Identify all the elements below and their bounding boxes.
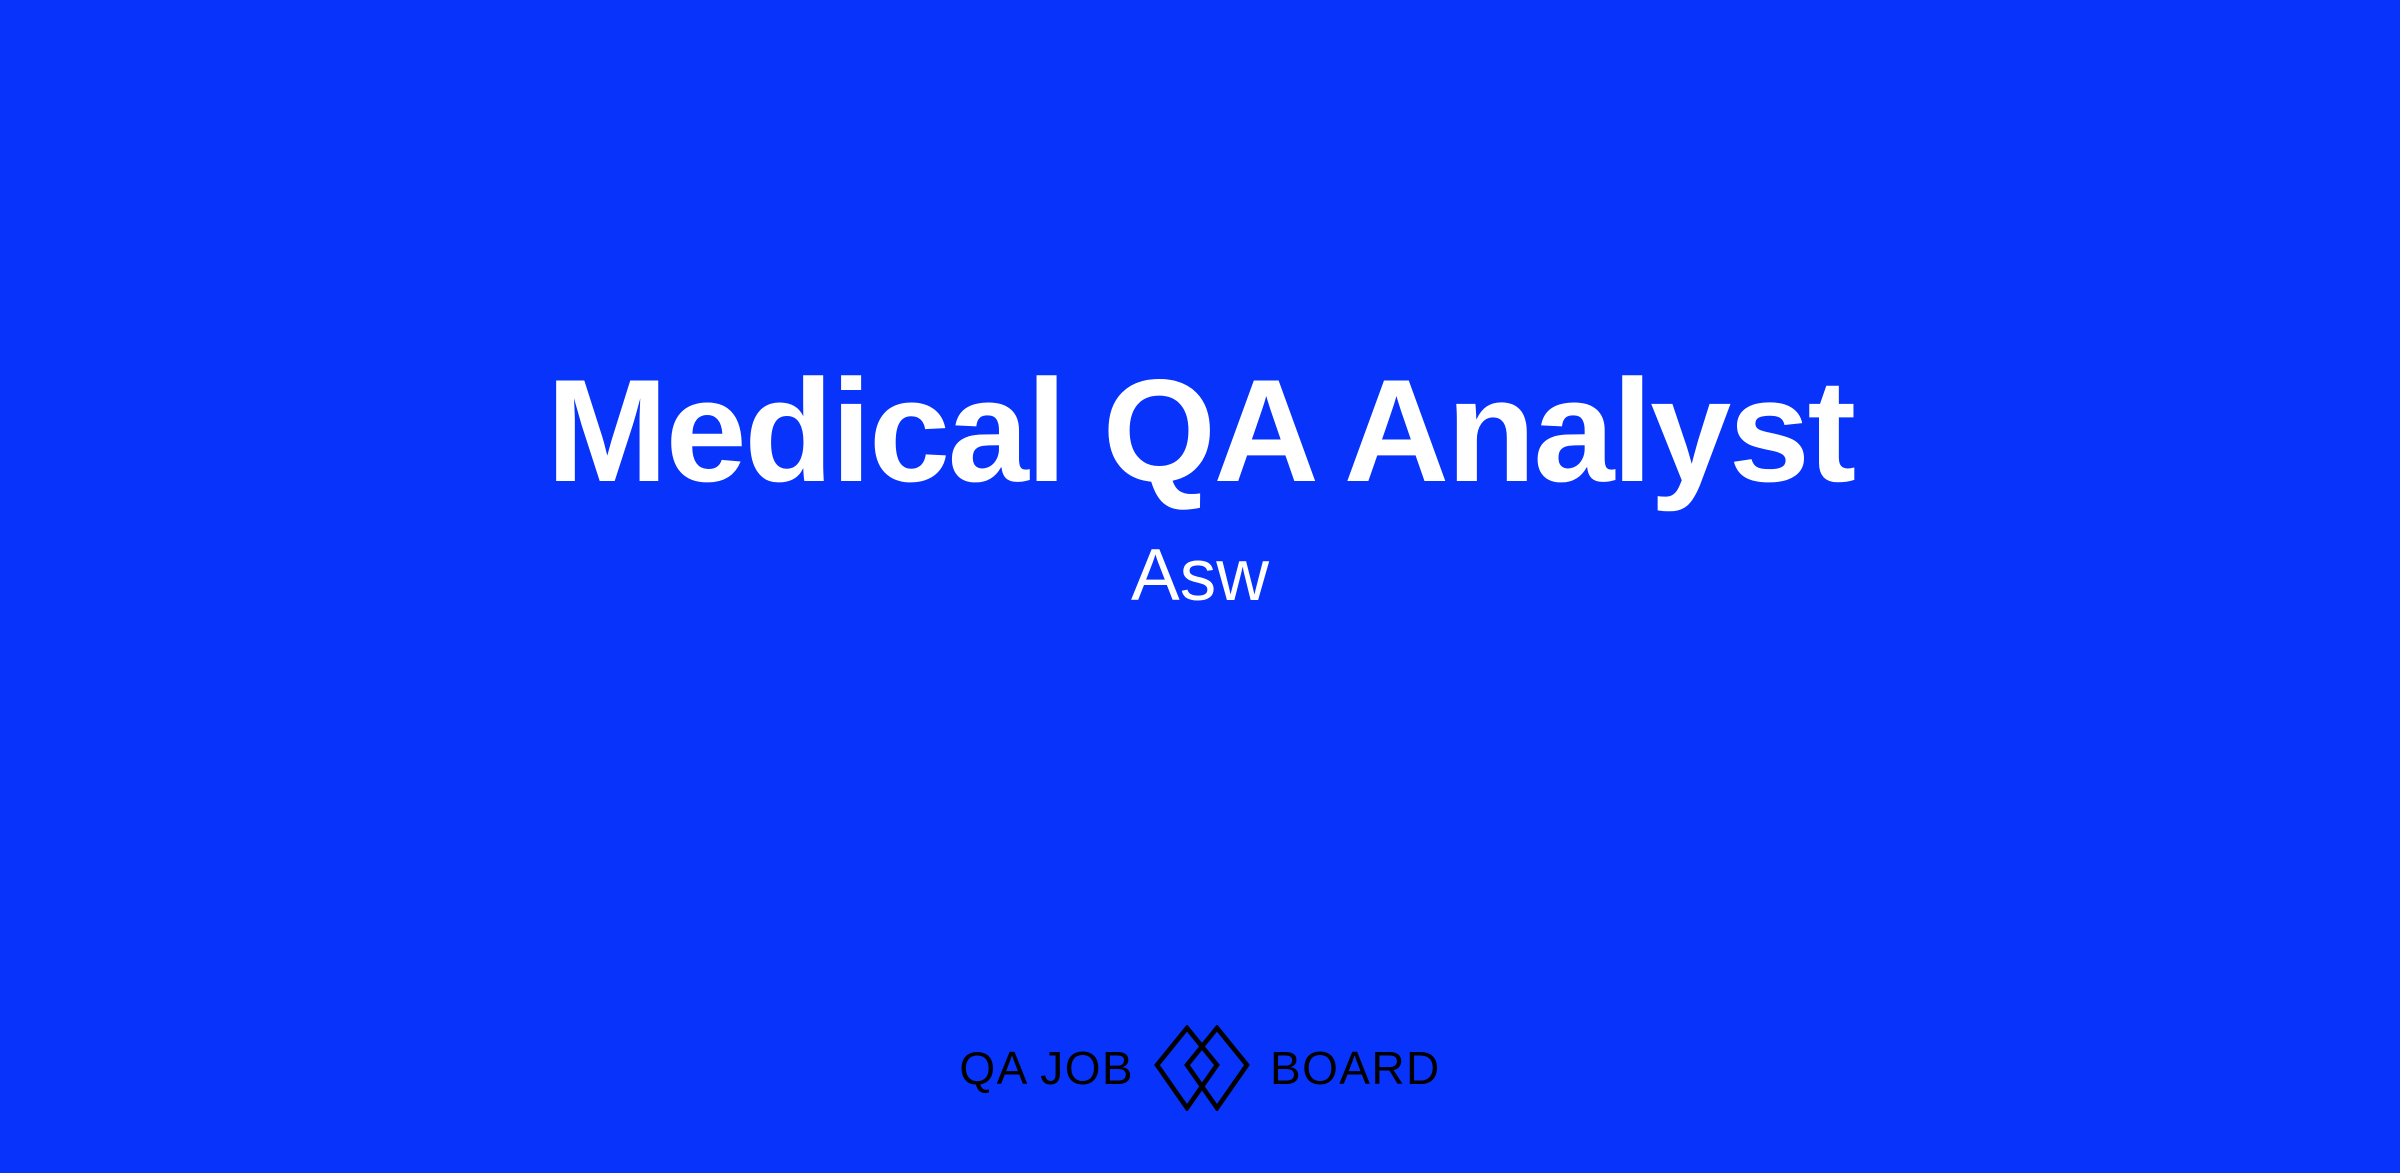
- job-posting-card: Medical QA Analyst Asw QA JOB BOARD: [0, 0, 2400, 1173]
- job-title: Medical QA Analyst: [456, 352, 1943, 510]
- double-diamond-logo-mark-icon: [1154, 1025, 1250, 1111]
- company-name: Asw: [1041, 532, 1359, 620]
- brand-word-right: BOARD: [1270, 1045, 1441, 1091]
- hero-section: Medical QA Analyst Asw: [0, 352, 2400, 619]
- brand-lockup: QA JOB BOARD: [0, 1025, 2400, 1111]
- brand-word-left: QA JOB: [959, 1045, 1134, 1091]
